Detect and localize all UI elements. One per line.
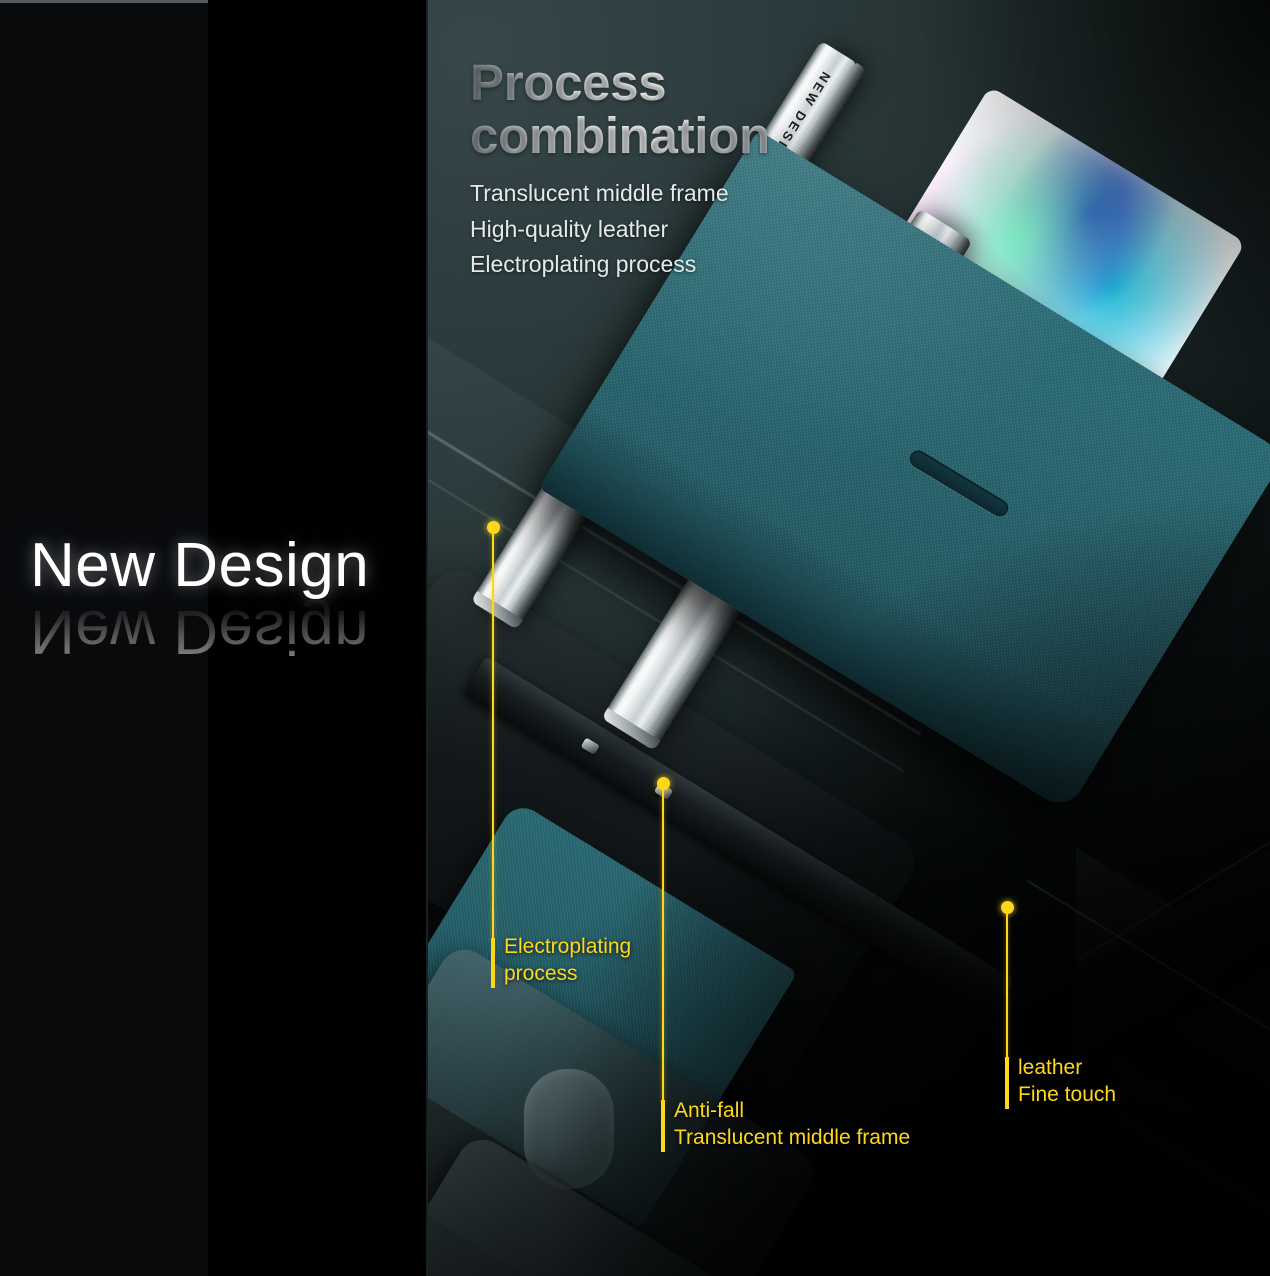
callout-label-line-1: leather [1018,1055,1116,1082]
callout-tick-antifall [661,1100,665,1152]
callout-label-line-2: Translucent middle frame [674,1125,910,1152]
headline-block: Process combination Translucent middle f… [470,56,900,283]
feature-list: Translucent middle frame High-quality le… [470,176,900,283]
callout-label-antifall: Anti-fall Translucent middle frame [674,1098,910,1152]
callout-label-line-2: process [504,961,631,988]
feature-item: Translucent middle frame [470,176,900,212]
callout-label-line-2: Fine touch [1018,1082,1116,1109]
callout-label-line-1: Electroplating [504,934,631,961]
callout-label-leather: leather Fine touch [1018,1055,1116,1109]
feature-item: Electroplating process [470,247,900,283]
page-title: Process combination [470,56,900,162]
brand-title: New Design [30,535,428,597]
product-marketing-banner: New Design New Design NEW DESIGN [0,0,1270,1276]
callout-tick-electroplating [491,938,495,988]
callout-line-antifall [662,786,664,1104]
callout-line-leather [1006,910,1008,1060]
feature-item: High-quality leather [470,212,900,248]
left-brand-panel: New Design New Design [0,0,428,1276]
product-photo: NEW DESIGN Proce [428,0,1270,1276]
callout-line-electroplating [492,530,494,940]
headline-line-2: combination [470,109,900,162]
brand-title-reflection: New Design [30,600,428,662]
callout-label-line-1: Anti-fall [674,1098,910,1125]
callout-label-electroplating: Electroplating process [504,934,631,988]
brand-title-block: New Design New Design [30,535,428,662]
top-divider-line [0,0,208,3]
headline-line-1: Process [470,56,900,109]
callout-tick-leather [1005,1057,1009,1109]
